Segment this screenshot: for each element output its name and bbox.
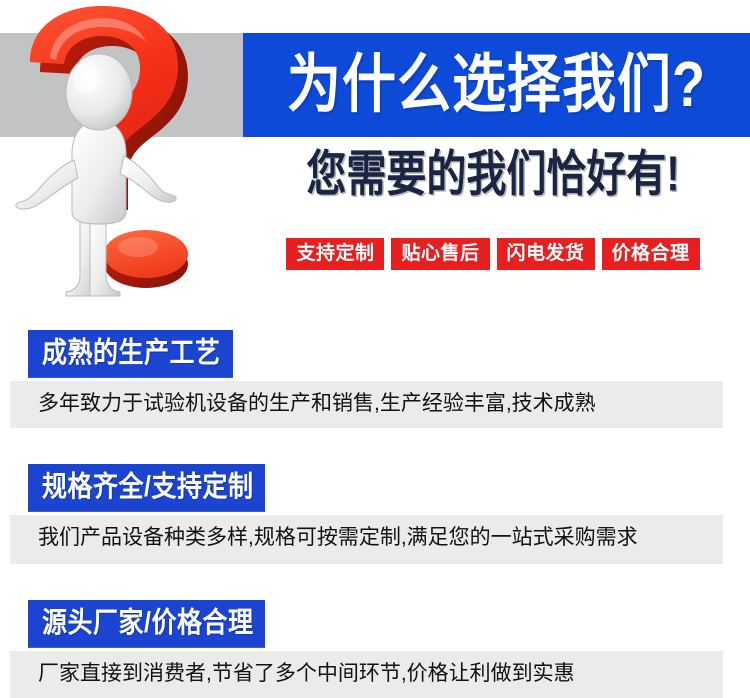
subheadline-text: 您需要的我们恰好有!: [243, 150, 743, 199]
feature-body-text: 厂家直接到消费者,节省了多个中间环节,价格让利做到实惠: [10, 651, 723, 698]
feature-body-text: 我们产品设备种类多样,规格可按需定制,满足您的一站式采购需求: [10, 515, 723, 564]
feature-tag-strip: 支持定制 贴心售后 闪电发货 价格合理: [243, 239, 743, 269]
question-mark-3d-with-mannequin-icon: [6, 4, 246, 300]
feature-heading: 成熟的生产工艺: [28, 330, 233, 378]
tag-badge: 价格合理: [603, 239, 699, 269]
tag-badge: 闪电发货: [498, 239, 594, 269]
hero-banner: 为什么选择我们? 您需要的我们恰好有! 支持定制 贴心售后 闪电发货 价格合理: [0, 0, 750, 300]
feature-item: 规格齐全/支持定制 我们产品设备种类多样,规格可按需定制,满足您的一站式采购需求: [0, 428, 750, 564]
tag-badge: 支持定制: [287, 239, 383, 269]
headline-text: 为什么选择我们?: [287, 53, 706, 117]
feature-heading: 规格齐全/支持定制: [28, 464, 265, 512]
feature-list: 成熟的生产工艺 多年致力于试验机设备的生产和销售,生产经验丰富,技术成熟 规格齐…: [0, 300, 750, 697]
headline-banner: 为什么选择我们?: [243, 33, 750, 137]
feature-heading: 源头厂家/价格合理: [28, 600, 265, 648]
feature-body-text: 多年致力于试验机设备的生产和销售,生产经验丰富,技术成熟: [10, 381, 723, 428]
feature-item: 源头厂家/价格合理 厂家直接到消费者,节省了多个中间环节,价格让利做到实惠: [0, 564, 750, 698]
feature-item: 成熟的生产工艺 多年致力于试验机设备的生产和销售,生产经验丰富,技术成熟: [0, 300, 750, 428]
tag-badge: 贴心售后: [392, 239, 488, 269]
